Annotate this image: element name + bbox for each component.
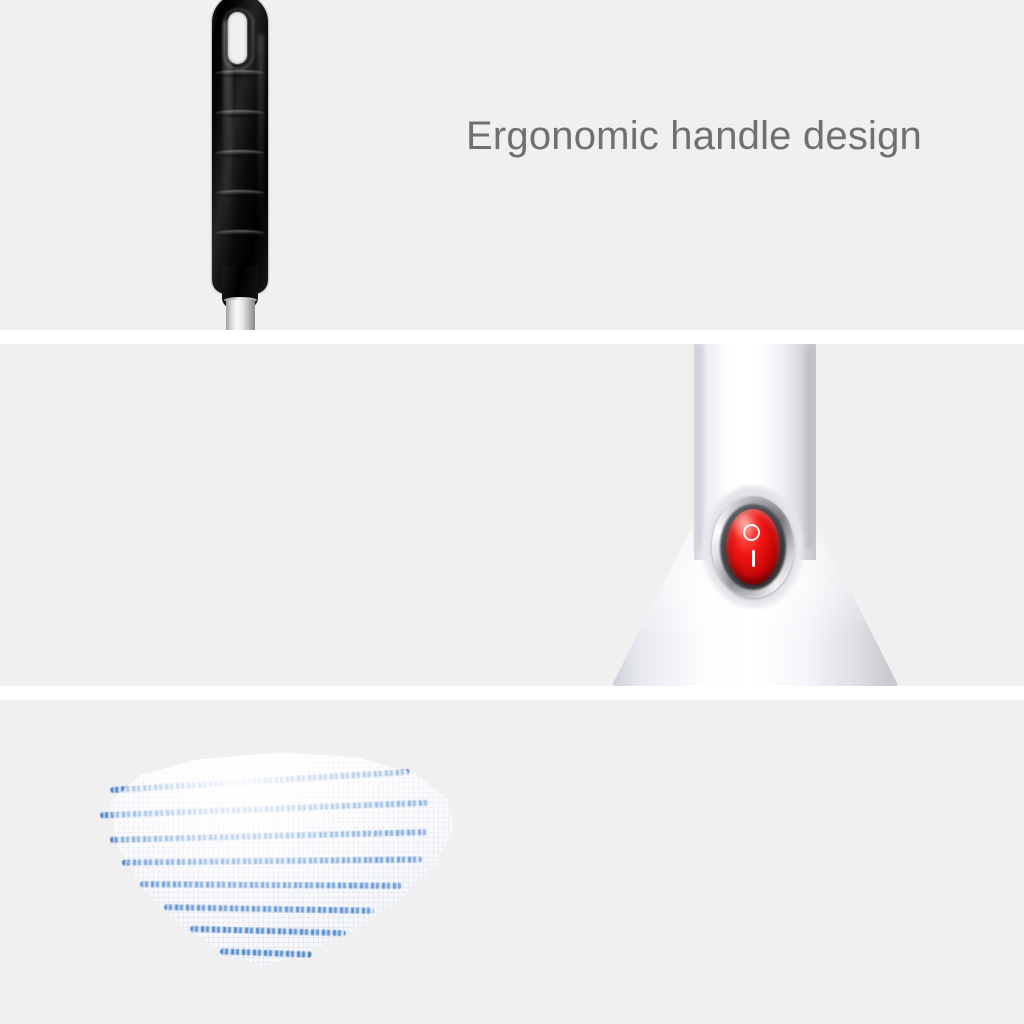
cleaning-pad-illustration [88, 748, 458, 973]
caption-ergonomic-handle: Ergonomic handle design [466, 114, 922, 159]
handle-ridge-3 [215, 150, 265, 157]
infographic-page: Ergonomic handle design Water proof butt… [0, 0, 1024, 1024]
handle-ridge-2 [215, 110, 265, 117]
handle-ridge-1 [215, 70, 265, 77]
extension-pole [226, 300, 255, 330]
handle-ridge-5 [215, 230, 265, 237]
handle-highlight-right [258, 34, 264, 249]
power-on-symbol-icon [752, 550, 755, 567]
power-switch[interactable] [703, 486, 803, 608]
hang-hole-icon [228, 12, 247, 64]
handle-ridge-4 [215, 190, 265, 197]
power-off-symbol-icon [743, 524, 760, 541]
handle-illustration [196, 0, 292, 330]
feature-panel-button: Water proof button [0, 344, 1024, 686]
feature-panel-pad: Strong clean pad [0, 700, 1024, 1024]
appliance-body-illustration [0, 344, 1024, 686]
feature-panel-handle: Ergonomic handle design [0, 0, 1024, 330]
